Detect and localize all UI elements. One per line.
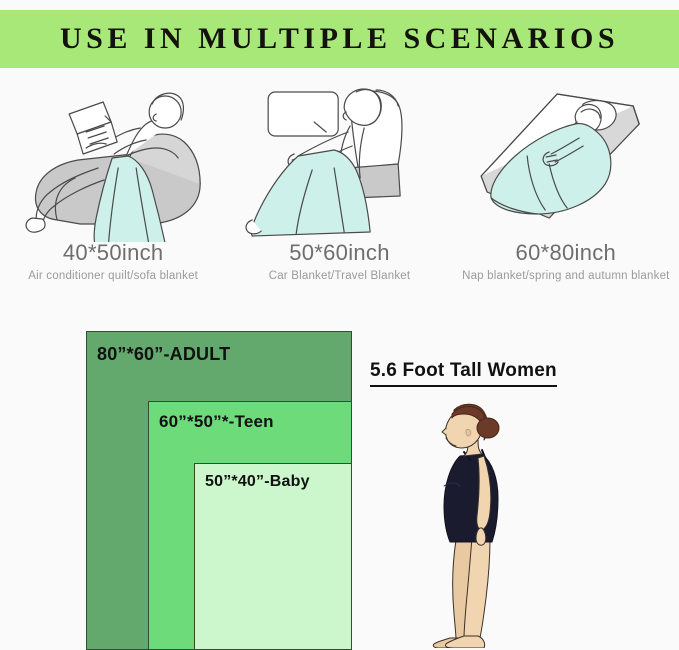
height-reference-panel: 5.6 Foot Tall Women xyxy=(370,360,620,650)
scenario-caption: Car Blanket/Travel Blanket xyxy=(269,270,411,282)
size-rect-baby: 50”*40”-Baby xyxy=(194,463,352,650)
scenario-size-label: 50*60inch xyxy=(289,240,390,266)
size-rect-baby-label: 50”*40”-Baby xyxy=(205,473,310,491)
person-in-car-seat-icon xyxy=(226,72,452,242)
size-comparison-chart: 80”*60”-ADULT 60”*50”*-Teen 50”*40”-Baby xyxy=(86,331,352,650)
size-rect-teen-label: 60”*50”*-Teen xyxy=(159,412,274,432)
person-sleeping-in-bed-icon xyxy=(453,72,679,242)
scenario-caption: Nap blanket/spring and autumn blanket xyxy=(462,270,670,282)
person-reading-on-beanbag-icon xyxy=(0,72,226,242)
scenario-size-label: 60*80inch xyxy=(516,240,617,266)
page-title: USE IN MULTIPLE SCENARIOS xyxy=(60,22,619,56)
standing-woman-silhouette-icon xyxy=(390,390,560,648)
scenario-item-sofa: 40*50inch Air conditioner quilt/sofa bla… xyxy=(0,72,226,297)
header-banner: USE IN MULTIPLE SCENARIOS xyxy=(0,10,679,68)
scenario-row: 40*50inch Air conditioner quilt/sofa bla… xyxy=(0,72,679,297)
scenario-caption: Air conditioner quilt/sofa blanket xyxy=(28,270,198,282)
height-reference-title: 5.6 Foot Tall Women xyxy=(370,360,557,387)
scenario-size-label: 40*50inch xyxy=(63,240,164,266)
scenario-item-bed: 60*80inch Nap blanket/spring and autumn … xyxy=(453,72,679,297)
scenario-item-car: 50*60inch Car Blanket/Travel Blanket xyxy=(226,72,452,297)
size-rect-adult-label: 80”*60”-ADULT xyxy=(97,344,230,365)
